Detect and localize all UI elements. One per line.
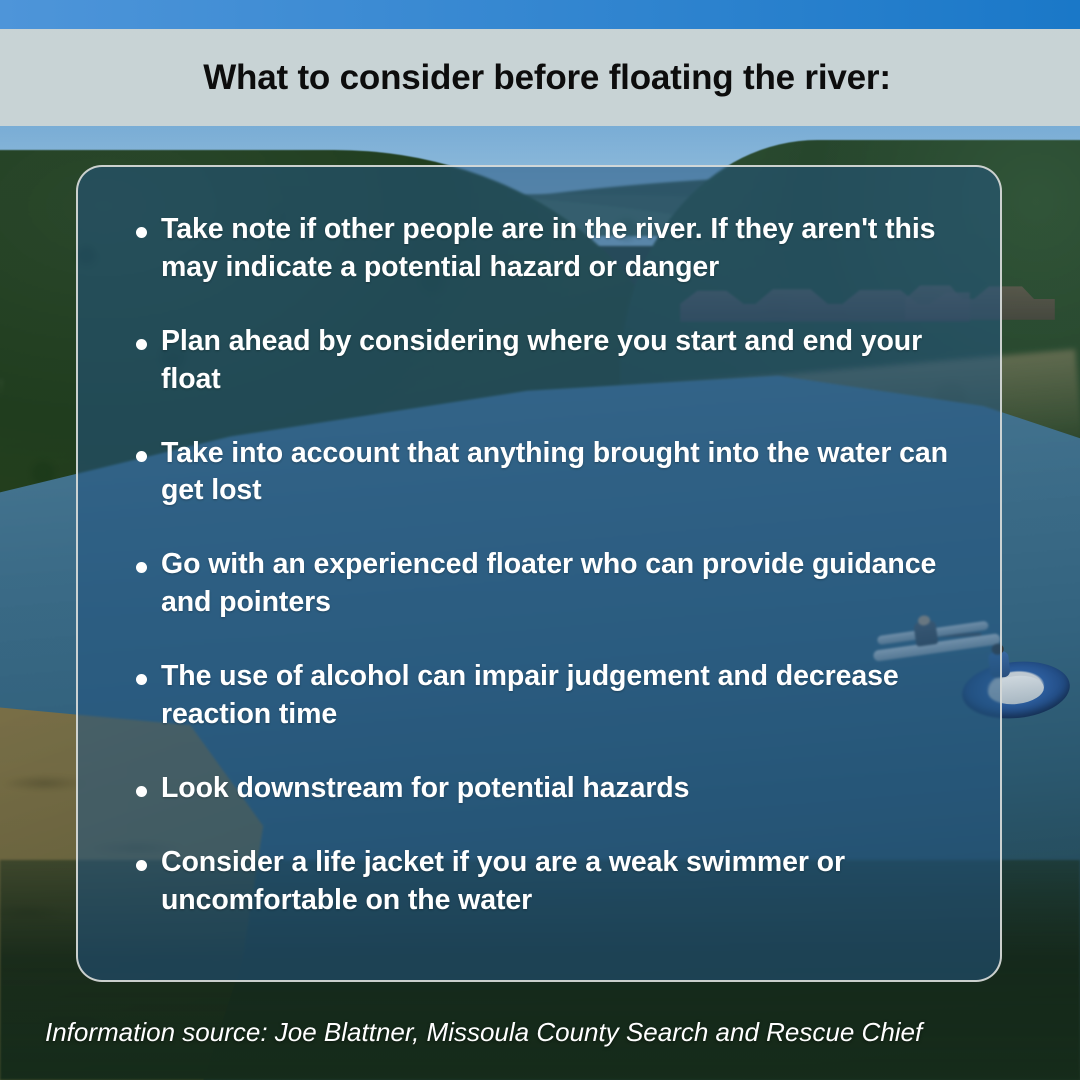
bullet-text: Take into account that anything brought … (161, 435, 951, 511)
list-item: Take note if other people are in the riv… (136, 211, 960, 287)
bullet-dot-icon (136, 339, 147, 350)
bullet-dot-icon (136, 860, 147, 871)
bullet-text: Go with an experienced floater who can p… (161, 546, 951, 622)
accent-bar (0, 0, 1080, 29)
bullet-list: Take note if other people are in the riv… (78, 167, 1000, 980)
page-title: What to consider before floating the riv… (0, 29, 1080, 126)
source-credit: Information source: Joe Blattner, Missou… (45, 1012, 1045, 1052)
bullet-text: Take note if other people are in the riv… (161, 211, 951, 287)
bullet-dot-icon (136, 227, 147, 238)
poster-canvas: What to consider before floating the riv… (0, 0, 1080, 1080)
list-item: Consider a life jacket if you are a weak… (136, 844, 960, 920)
bullet-dot-icon (136, 786, 147, 797)
bullet-text: The use of alcohol can impair judgement … (161, 658, 951, 734)
bullet-text: Plan ahead by considering where you star… (161, 323, 951, 399)
bullet-text: Consider a life jacket if you are a weak… (161, 844, 951, 920)
list-item: The use of alcohol can impair judgement … (136, 658, 960, 734)
list-item: Take into account that anything brought … (136, 435, 960, 511)
list-item: Look downstream for potential hazards (136, 770, 960, 808)
list-item: Go with an experienced floater who can p… (136, 546, 960, 622)
bullet-dot-icon (136, 562, 147, 573)
content-card: Take note if other people are in the riv… (76, 165, 1002, 982)
bullet-dot-icon (136, 451, 147, 462)
list-item: Plan ahead by considering where you star… (136, 323, 960, 399)
bullet-dot-icon (136, 674, 147, 685)
bullet-text: Look downstream for potential hazards (161, 770, 689, 808)
